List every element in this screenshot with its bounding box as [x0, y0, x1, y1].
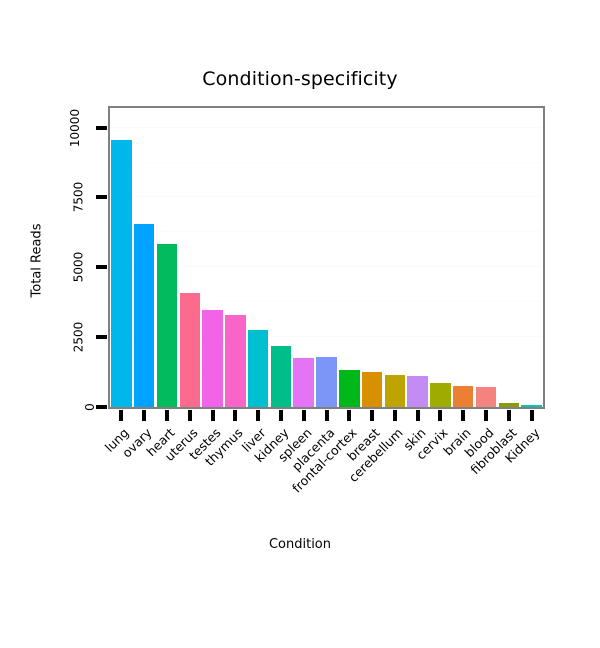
y-axis-tick-label: 5000 — [40, 237, 94, 297]
bar-chart: Condition-specificity Total Reads Condit… — [0, 0, 600, 600]
x-axis-tick — [347, 410, 351, 421]
bar — [362, 372, 383, 407]
x-axis-tick — [484, 410, 488, 421]
x-axis-tick — [279, 410, 283, 421]
bar — [225, 315, 246, 407]
x-axis-tick — [211, 410, 215, 421]
bar — [271, 346, 292, 407]
bar — [499, 403, 520, 407]
x-axis-tick — [119, 410, 123, 421]
bar — [134, 224, 155, 407]
y-axis-tick — [96, 335, 107, 339]
y-axis-tick-label: 0 — [40, 377, 94, 437]
bar — [157, 244, 178, 407]
bar — [316, 357, 337, 407]
bar — [385, 375, 406, 407]
x-axis-tick — [188, 410, 192, 421]
bar — [180, 293, 201, 407]
y-axis-tick — [96, 126, 107, 130]
bar — [248, 330, 269, 407]
x-axis-tick — [165, 410, 169, 421]
bar — [453, 386, 474, 407]
plot-area — [110, 108, 543, 407]
bar — [293, 358, 314, 407]
x-axis-tick — [325, 410, 329, 421]
x-axis-tick — [530, 410, 534, 421]
bar — [407, 376, 428, 407]
y-axis-tick-label: 7500 — [40, 167, 94, 227]
x-axis-tick — [438, 410, 442, 421]
x-axis-tick — [393, 410, 397, 421]
y-axis-tick-label: 10000 — [40, 98, 94, 158]
plot-panel — [108, 106, 545, 409]
bar — [339, 370, 360, 407]
y-axis-tick-label: 2500 — [40, 307, 94, 367]
x-axis-tick — [416, 410, 420, 421]
x-axis-tick — [233, 410, 237, 421]
bar — [476, 387, 497, 407]
bar-series — [110, 108, 543, 407]
y-axis-tick — [96, 265, 107, 269]
x-axis-tick — [461, 410, 465, 421]
x-axis-tick — [370, 410, 374, 421]
chart-title: Condition-specificity — [0, 68, 600, 90]
x-axis-tick — [256, 410, 260, 421]
x-axis-tick — [302, 410, 306, 421]
x-axis-tick — [507, 410, 511, 421]
bar — [430, 383, 451, 407]
bar — [111, 140, 132, 407]
x-axis-tick — [142, 410, 146, 421]
y-axis-tick — [96, 195, 107, 199]
bar — [202, 310, 223, 407]
bar — [521, 405, 542, 407]
y-axis-tick — [96, 405, 107, 409]
